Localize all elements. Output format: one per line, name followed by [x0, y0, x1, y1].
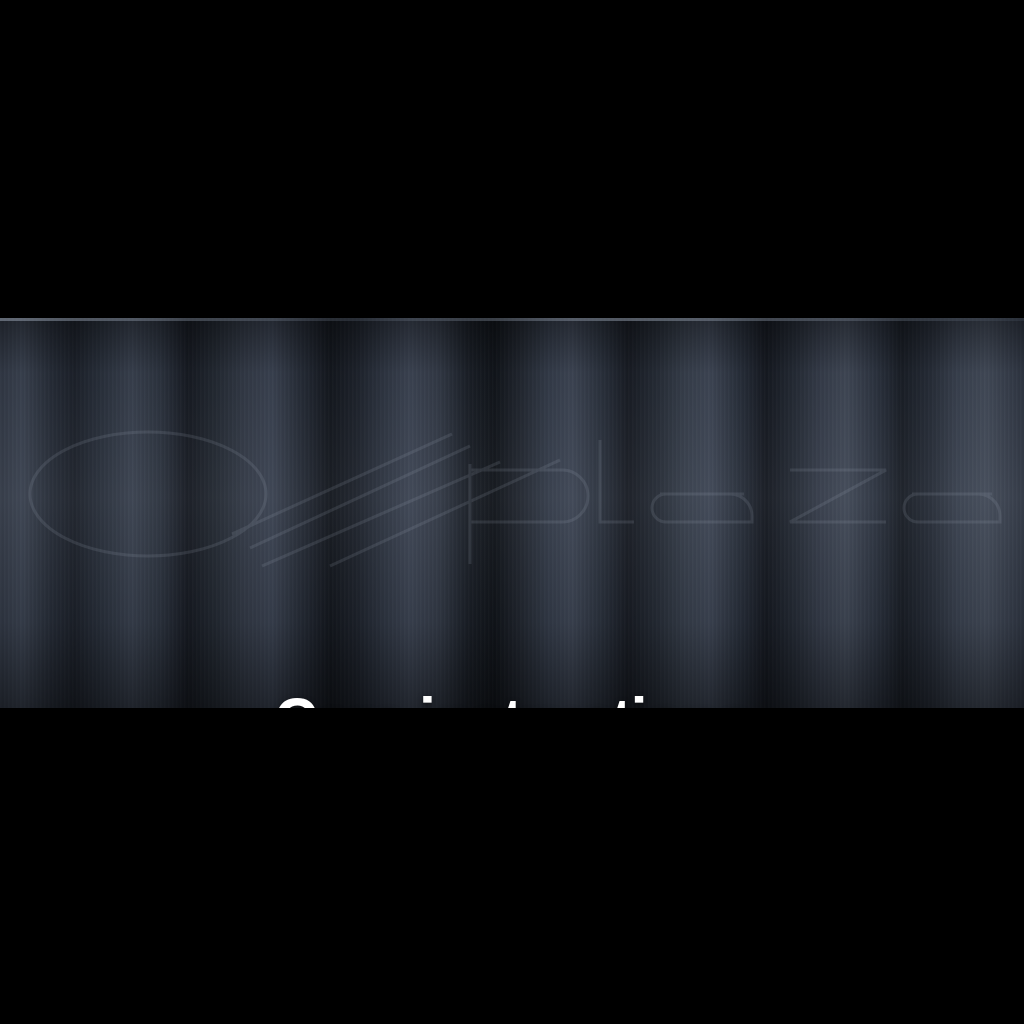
page-title: Care instructions: [41, 682, 983, 708]
care-instructions-banner: Care instructions Machine washable cold: [0, 318, 1024, 708]
page-canvas: Care instructions Machine washable cold: [0, 0, 1024, 1024]
fabric-sheen-overlay: [0, 318, 1024, 708]
banner-top-edge-highlight: [0, 318, 1024, 321]
